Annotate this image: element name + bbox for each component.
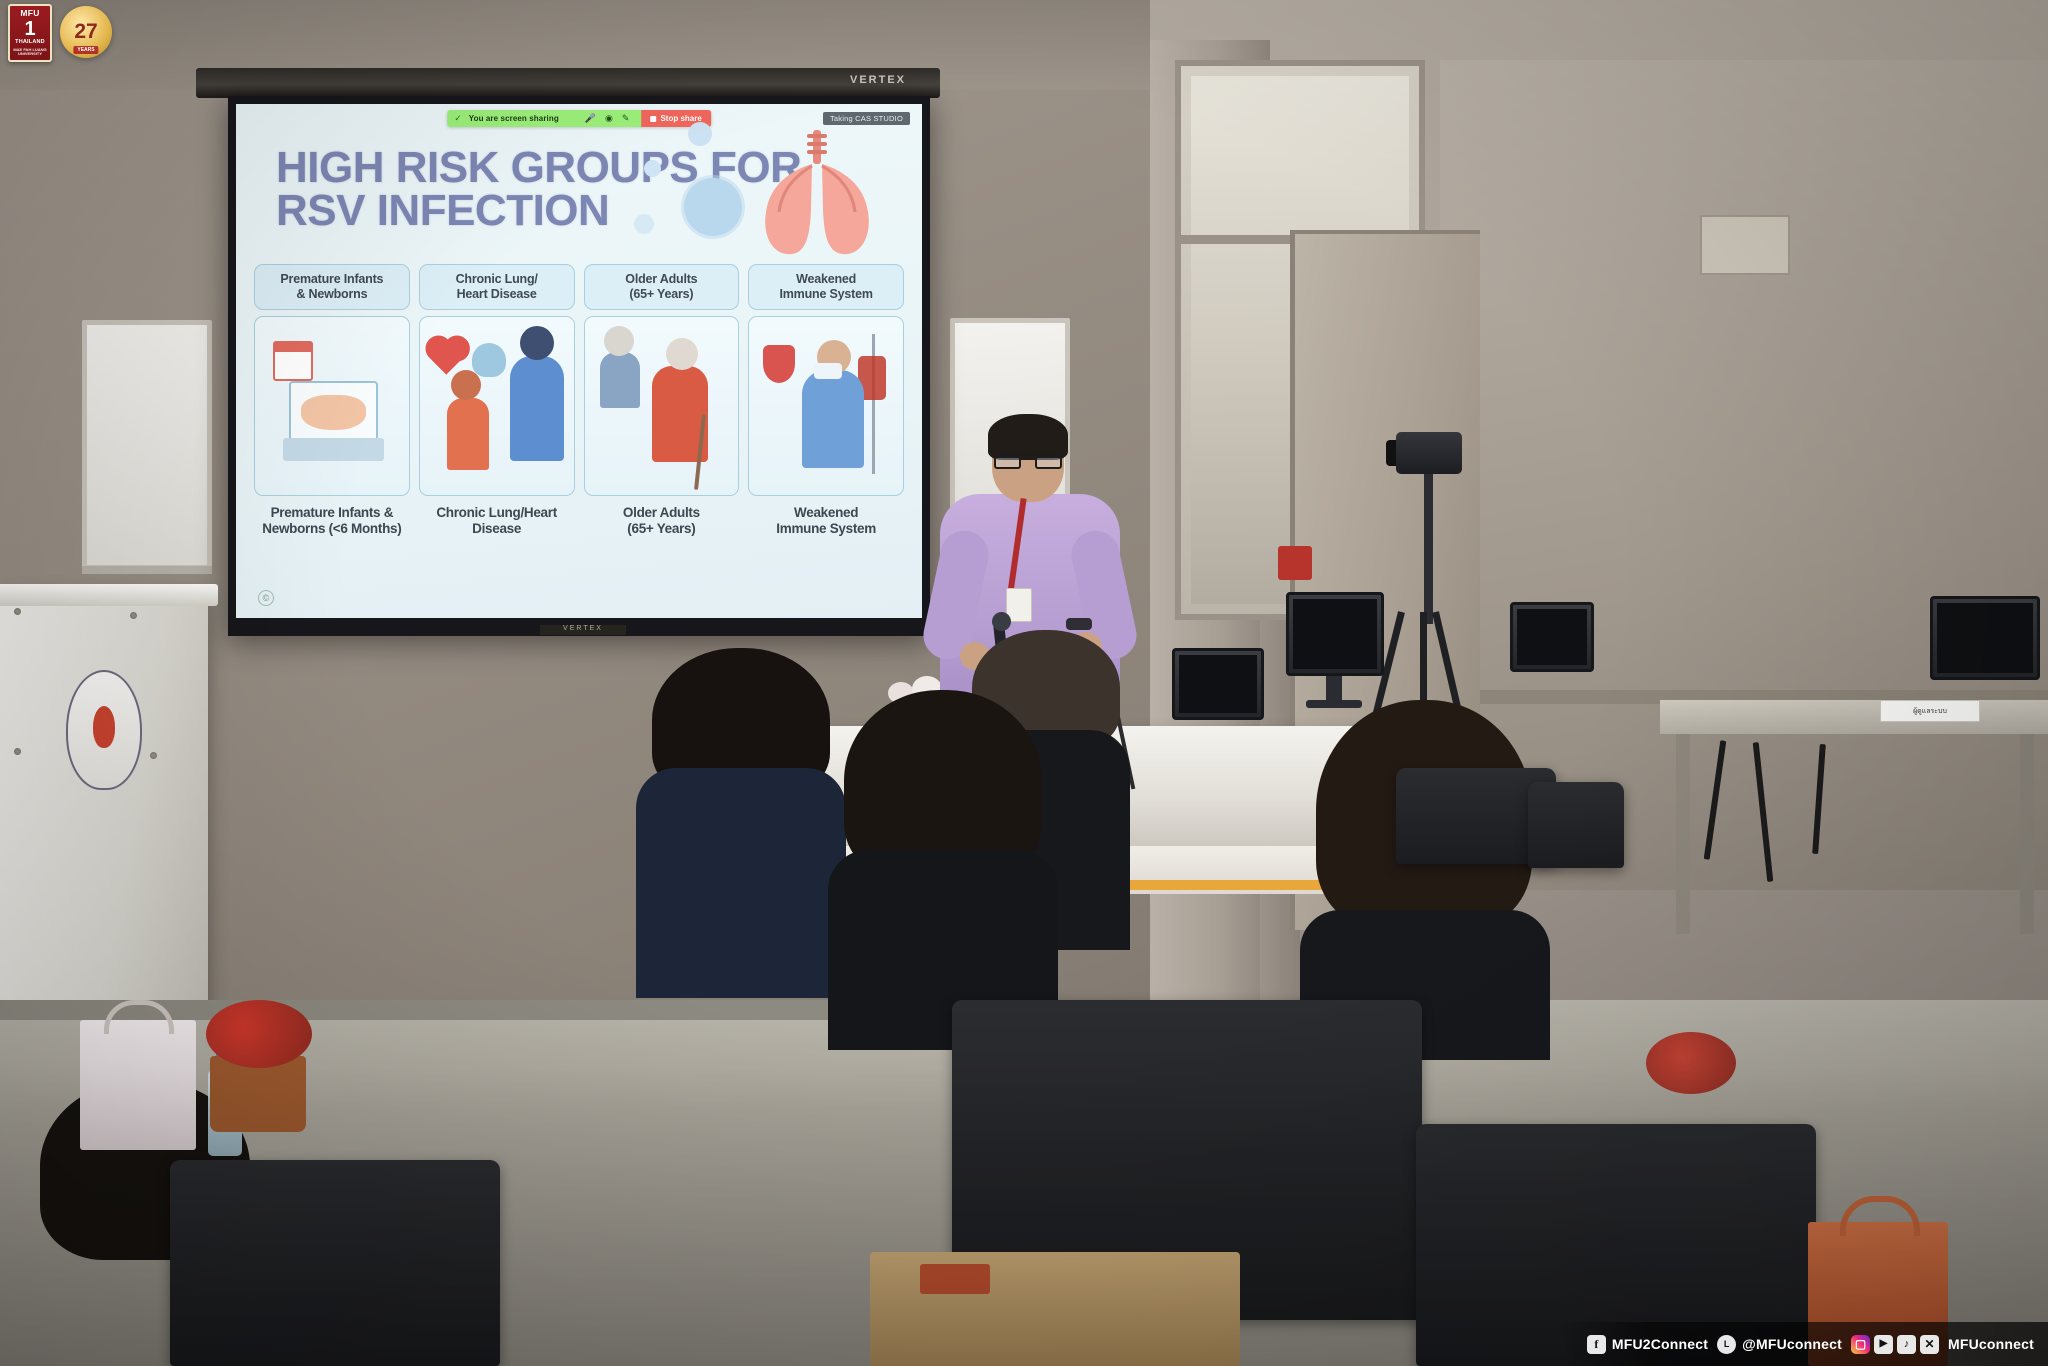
zoom-toolbar-icons[interactable]: 🎤 ◉ ✎ bbox=[573, 113, 642, 124]
card-caption-line-1: Chronic Lung/Heart bbox=[436, 505, 557, 521]
podium-screw bbox=[150, 752, 157, 759]
risk-card-premature-infants: Premature Infants & Newborns Premature I… bbox=[254, 264, 410, 537]
risk-card-older-adults: Older Adults (65+ Years) bbox=[584, 264, 740, 537]
glasses-lens bbox=[1035, 456, 1062, 469]
audience-member bbox=[1300, 700, 1550, 1040]
mfu-logo-country: THAILAND bbox=[15, 40, 45, 46]
card-caption-line-2: Immune System bbox=[776, 521, 876, 537]
card-caption-line-1: Weakened bbox=[776, 505, 876, 521]
virus-icon bbox=[644, 160, 661, 177]
card-illustration bbox=[748, 316, 904, 496]
card-header: Weakened Immune System bbox=[748, 264, 904, 310]
emblem-flame-icon bbox=[93, 706, 115, 748]
screenshare-status-text: You are screen sharing bbox=[469, 114, 573, 123]
anniversary-ribbon: YEARS bbox=[73, 46, 98, 54]
card-caption-line-2: (65+ Years) bbox=[623, 521, 700, 537]
social-trailing-handle: MFUconnect bbox=[1948, 1336, 2034, 1352]
card-header: Premature Infants & Newborns bbox=[254, 264, 410, 310]
podium-screw bbox=[14, 608, 21, 615]
card-caption-line-2: Newborns (<6 Months) bbox=[262, 521, 401, 537]
head-shape bbox=[451, 370, 481, 400]
facebook-icon[interactable]: f bbox=[1587, 1335, 1606, 1354]
social-item-facebook[interactable]: f MFU2Connect bbox=[1587, 1335, 1708, 1354]
newborn-icon bbox=[301, 395, 366, 431]
monitor-screen bbox=[1179, 655, 1257, 713]
card-illustration bbox=[584, 316, 740, 496]
monitor-stand bbox=[1326, 676, 1342, 702]
card-caption-line-1: Older Adults bbox=[623, 505, 700, 521]
card-header-line-1: Chronic Lung/ bbox=[424, 272, 570, 287]
tiktok-icon[interactable]: ♪ bbox=[1897, 1335, 1916, 1354]
side-counter bbox=[1660, 700, 2048, 734]
monitor bbox=[1510, 602, 1594, 672]
side-desk-sign: ผู้ดูแลระบบ bbox=[1880, 700, 1980, 722]
anniversary-number: 27 bbox=[74, 20, 97, 44]
wristwatch bbox=[1066, 618, 1092, 630]
card-caption-line-1: Premature Infants & bbox=[262, 505, 401, 521]
head-shape bbox=[666, 338, 698, 370]
risk-card-chronic-lung-heart: Chronic Lung/ Heart Disease bbox=[419, 264, 575, 537]
card-header-line-1: Weakened bbox=[753, 272, 899, 287]
social-media-bar: f MFU2Connect L @MFUconnect ▢ ▶ ♪ ✕ MFUc… bbox=[1561, 1322, 2048, 1366]
virus-icon bbox=[684, 178, 742, 236]
card-header-line-1: Older Adults bbox=[589, 272, 735, 287]
card-caption: Chronic Lung/Heart Disease bbox=[436, 505, 557, 537]
stop-icon bbox=[650, 116, 656, 122]
card-header-line-2: & Newborns bbox=[259, 287, 405, 302]
mfu-logo-number: 1 bbox=[24, 19, 35, 39]
wall-notice-plate bbox=[1700, 215, 1790, 275]
line-handle: @MFUconnect bbox=[1742, 1336, 1842, 1352]
projection-surface: ✓ You are screen sharing 🎤 ◉ ✎ Stop shar… bbox=[236, 104, 922, 618]
monitor-screen bbox=[1517, 609, 1587, 665]
red-flowers bbox=[206, 1000, 312, 1068]
chair[interactable] bbox=[1528, 782, 1624, 868]
zoom-screenshare-toolbar[interactable]: ✓ You are screen sharing 🎤 ◉ ✎ Stop shar… bbox=[447, 110, 711, 127]
screen-brand-label: VERTEX bbox=[850, 74, 906, 86]
masked-patient-icon bbox=[802, 370, 864, 468]
screen-foot-brand-label: VERTEX bbox=[540, 625, 626, 635]
lungs-illustration bbox=[752, 126, 882, 266]
head-shape bbox=[520, 326, 554, 360]
facebook-handle: MFU2Connect bbox=[1612, 1336, 1708, 1352]
x-twitter-icon[interactable]: ✕ bbox=[1920, 1335, 1939, 1354]
microphone-icon[interactable]: 🎤 bbox=[585, 113, 596, 124]
video-camera bbox=[1396, 432, 1462, 474]
monitor bbox=[1930, 596, 2040, 680]
line-icon[interactable]: L bbox=[1717, 1335, 1736, 1354]
card-header-line-2: (65+ Years) bbox=[589, 287, 735, 302]
podium-screw bbox=[14, 748, 21, 755]
projection-screen: ✓ You are screen sharing 🎤 ◉ ✎ Stop shar… bbox=[228, 96, 930, 636]
child-figure-icon bbox=[447, 398, 489, 470]
card-caption-line-2: Disease bbox=[436, 521, 557, 537]
annotate-icon[interactable]: ✎ bbox=[622, 113, 630, 124]
lungs-svg bbox=[752, 126, 882, 266]
podium-emblem bbox=[34, 650, 174, 810]
card-illustration bbox=[254, 316, 410, 496]
check-icon: ✓ bbox=[447, 113, 469, 124]
card-caption: Premature Infants & Newborns (<6 Months) bbox=[262, 505, 401, 537]
face-mask-icon bbox=[814, 363, 842, 379]
audience-member bbox=[636, 648, 846, 978]
projector-screen-housing: VERTEX bbox=[196, 68, 940, 98]
head-shape bbox=[604, 326, 634, 356]
adult-figure-icon bbox=[510, 356, 564, 461]
youtube-icon[interactable]: ▶ bbox=[1874, 1335, 1893, 1354]
microphone-head-icon bbox=[992, 612, 1011, 631]
monitor-screen bbox=[1937, 603, 2033, 673]
monitor-screen bbox=[1293, 599, 1377, 669]
audience-member bbox=[828, 690, 1058, 1020]
mfu-logo-word: MFU bbox=[20, 9, 39, 18]
side-counter-leg bbox=[1676, 734, 1690, 934]
calendar-header bbox=[275, 343, 311, 352]
card-illustration bbox=[419, 316, 575, 496]
card-caption: Weakened Immune System bbox=[776, 505, 876, 537]
whiteboard-left bbox=[82, 320, 212, 570]
slide: ✓ You are screen sharing 🎤 ◉ ✎ Stop shar… bbox=[236, 104, 922, 618]
card-header-line-2: Immune System bbox=[753, 287, 899, 302]
mfu-logo: MFU 1 THAILAND MAE FAH LUANG UNIVERSITY bbox=[8, 4, 52, 62]
audience-body bbox=[636, 768, 846, 998]
heart-icon bbox=[429, 339, 464, 374]
studio-watermark: Taking CAS STUDIO bbox=[823, 112, 910, 125]
social-item-line[interactable]: L @MFUconnect bbox=[1717, 1335, 1842, 1354]
risk-group-cards: Premature Infants & Newborns Premature I… bbox=[254, 264, 904, 537]
glasses-lens bbox=[994, 456, 1021, 469]
risk-card-weakened-immune: Weakened Immune System bbox=[748, 264, 904, 537]
whiteboard-tray bbox=[82, 566, 212, 574]
podium-screw bbox=[130, 612, 137, 619]
mfu-logo-subtitle: MAE FAH LUANG UNIVERSITY bbox=[10, 48, 50, 56]
scene-root: VERTEX ✓ You are screen sharing 🎤 ◉ ✎ St… bbox=[0, 0, 2048, 1366]
red-flowers bbox=[1646, 1032, 1736, 1094]
glasses-icon bbox=[994, 454, 1062, 467]
virus-icon bbox=[634, 214, 654, 234]
fire-alarm-sign bbox=[1278, 546, 1312, 580]
monitor bbox=[1286, 592, 1384, 676]
side-counter-leg bbox=[2020, 734, 2034, 934]
paper-bag bbox=[80, 1020, 196, 1150]
instagram-icon[interactable]: ▢ bbox=[1851, 1335, 1870, 1354]
card-header: Chronic Lung/ Heart Disease bbox=[419, 264, 575, 310]
record-icon[interactable]: ◉ bbox=[605, 113, 613, 124]
card-header-line-2: Heart Disease bbox=[424, 287, 570, 302]
elder-figure-icon bbox=[600, 352, 640, 408]
podium-top bbox=[0, 584, 218, 606]
card-header-line-1: Premature Infants bbox=[259, 272, 405, 287]
desk-item bbox=[920, 1264, 990, 1294]
incubator-base bbox=[283, 438, 384, 461]
card-caption: Older Adults (65+ Years) bbox=[623, 505, 700, 537]
tripod-column bbox=[1424, 474, 1433, 624]
chair[interactable] bbox=[170, 1160, 500, 1366]
card-header: Older Adults (65+ Years) bbox=[584, 264, 740, 310]
virus-icon bbox=[688, 122, 712, 146]
anniversary-badge: 27 YEARS bbox=[60, 6, 112, 58]
slide-footer-logo-icon: © bbox=[258, 590, 274, 606]
social-icon-group[interactable]: ▢ ▶ ♪ ✕ bbox=[1851, 1335, 1939, 1354]
monitor bbox=[1172, 648, 1264, 720]
calendar-icon bbox=[273, 341, 313, 381]
emblem-shape bbox=[66, 670, 142, 790]
shield-icon bbox=[763, 345, 795, 383]
lung-icon bbox=[472, 343, 506, 377]
